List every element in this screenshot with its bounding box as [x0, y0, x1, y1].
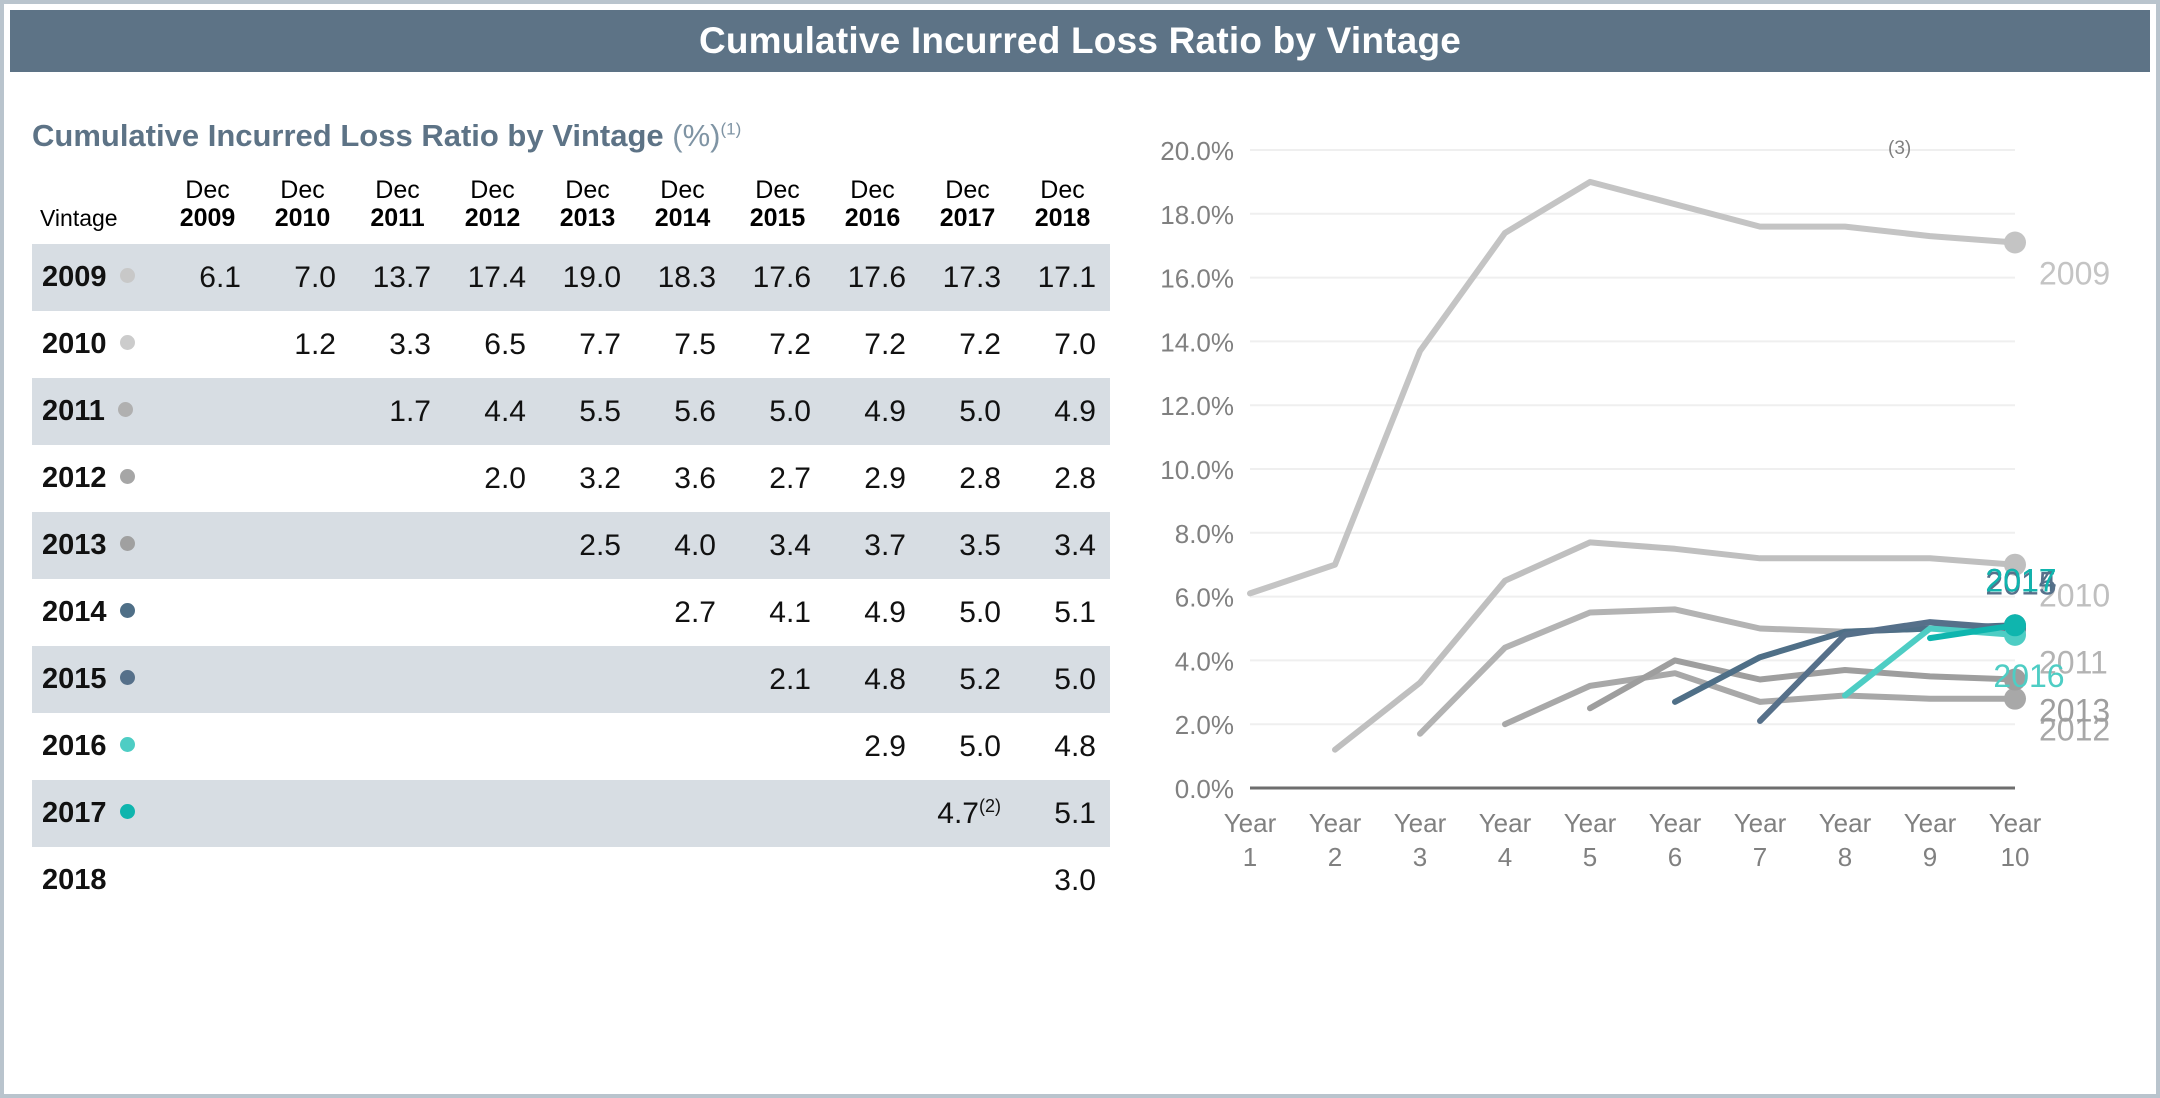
table-cell	[160, 847, 255, 914]
table-cell: 5.5	[540, 378, 635, 445]
table-row: 20132.54.03.43.73.53.4	[32, 512, 1110, 579]
x-axis-tick-label: Year	[1734, 808, 1787, 838]
series-color-dot-icon	[120, 335, 135, 350]
vintage-year-label: 2014	[42, 596, 107, 628]
table-cell	[255, 512, 350, 579]
column-header-dec-2017: Dec2017	[920, 176, 1015, 244]
table-cell: 2.8	[1015, 445, 1110, 512]
table-cell: 5.0	[920, 713, 1015, 780]
table-cell	[350, 780, 445, 847]
table-cell: 3.2	[540, 445, 635, 512]
chart-footnote-marker: (3)	[1888, 138, 1911, 160]
table-cell	[160, 713, 255, 780]
table-row: 20142.74.14.95.05.1	[32, 579, 1110, 646]
table-cell	[730, 847, 825, 914]
table-cell: 4.9	[825, 579, 920, 646]
table-cell: 2.7	[730, 445, 825, 512]
table-cell: 4.1	[730, 579, 825, 646]
table-cell: 4.9	[1015, 378, 1110, 445]
column-header-month: Dec	[160, 176, 255, 204]
table-cell	[350, 713, 445, 780]
y-axis-tick-label: 20.0%	[1160, 136, 1234, 166]
table-cell	[255, 646, 350, 713]
table-cell: 5.2	[920, 646, 1015, 713]
table-cell: 19.0	[540, 244, 635, 311]
column-header-dec-2012: Dec2012	[445, 176, 540, 244]
table-cell	[160, 311, 255, 378]
series-color-dot-icon	[120, 737, 135, 752]
table-cell: 3.6	[635, 445, 730, 512]
table-cell	[825, 847, 920, 914]
column-header-dec-2009: Dec2009	[160, 176, 255, 244]
table-cell: 7.5	[635, 311, 730, 378]
table-cell: 4.4	[445, 378, 540, 445]
table-row-vintage: 2015	[32, 646, 160, 713]
table-cell: 4.9	[825, 378, 920, 445]
table-cell: 5.6	[635, 378, 730, 445]
table-cell: 5.0	[1015, 646, 1110, 713]
table-row-vintage: 2012	[32, 445, 160, 512]
x-axis-tick-label: Year	[1224, 808, 1277, 838]
table-cell	[445, 646, 540, 713]
vintage-year-label: 2018	[42, 864, 107, 896]
table-header-row: Vintage Dec2009 Dec2010 Dec2011 Dec2012 …	[32, 176, 1110, 244]
vintage-year-label: 2016	[42, 730, 107, 762]
column-header-month: Dec	[350, 176, 445, 204]
table-cell: 3.3	[350, 311, 445, 378]
table-panel: Cumulative Incurred Loss Ratio by Vintag…	[10, 78, 1120, 1088]
x-axis-tick-label: 4	[1498, 842, 1512, 872]
table-cell: 1.7	[350, 378, 445, 445]
table-cell: 3.7	[825, 512, 920, 579]
slide-page: Cumulative Incurred Loss Ratio by Vintag…	[0, 0, 2160, 1098]
table-cell: 17.4	[445, 244, 540, 311]
table-row: 20096.17.013.717.419.018.317.617.617.317…	[32, 244, 1110, 311]
vintage-year-label: 2012	[42, 462, 107, 494]
table-cell: 13.7	[350, 244, 445, 311]
table-cell	[160, 646, 255, 713]
table-cell: 1.2	[255, 311, 350, 378]
x-axis-tick-label: Year	[1904, 808, 1957, 838]
x-axis-tick-label: 8	[1838, 842, 1852, 872]
y-axis-tick-label: 18.0%	[1160, 200, 1234, 230]
table-cell	[445, 579, 540, 646]
table-row-vintage: 2013	[32, 512, 160, 579]
table-cell	[920, 847, 1015, 914]
vintage-table: Vintage Dec2009 Dec2010 Dec2011 Dec2012 …	[32, 176, 1110, 914]
series-label-2017: 2017	[1985, 562, 2056, 598]
table-cell: 4.0	[635, 512, 730, 579]
y-axis-tick-label: 4.0%	[1175, 646, 1234, 676]
table-cell	[255, 847, 350, 914]
column-header-year: 2016	[845, 204, 901, 232]
series-label-2009: 2009	[2039, 256, 2110, 292]
table-cell: 5.1	[1015, 780, 1110, 847]
x-axis-tick-label: Year	[1394, 808, 1447, 838]
vintage-year-label: 2013	[42, 529, 107, 561]
column-header-year: 2009	[180, 204, 236, 232]
table-row-vintage: 2018	[32, 847, 160, 914]
y-axis-tick-label: 10.0%	[1160, 455, 1234, 485]
x-axis-tick-label: Year	[1649, 808, 1702, 838]
vintage-year-label: 2015	[42, 663, 107, 695]
x-axis-tick-label: 5	[1583, 842, 1597, 872]
column-header-year: 2011	[370, 204, 424, 232]
vintage-year-label: 2011	[42, 395, 105, 427]
x-axis-tick-label: 7	[1753, 842, 1767, 872]
table-cell	[540, 847, 635, 914]
table-row-vintage: 2014	[32, 579, 160, 646]
series-color-dot-icon	[120, 268, 135, 283]
table-cell: 4.8	[825, 646, 920, 713]
x-axis-tick-label: Year	[1309, 808, 1362, 838]
column-header-month: Dec	[255, 176, 350, 204]
column-header-year: 2014	[655, 204, 711, 232]
table-row-vintage: 2009	[32, 244, 160, 311]
x-axis-tick-label: Year	[1479, 808, 1532, 838]
table-cell: 2.0	[445, 445, 540, 512]
x-axis-tick-label: 3	[1413, 842, 1427, 872]
series-color-dot-icon	[120, 469, 135, 484]
series-label-2013: 2013	[2039, 693, 2110, 729]
column-header-month: Dec	[825, 176, 920, 204]
x-axis-tick-label: Year	[1819, 808, 1872, 838]
x-axis-tick-label: 1	[1243, 842, 1257, 872]
table-cell	[540, 780, 635, 847]
table-cell	[445, 512, 540, 579]
table-row: 20152.14.85.25.0	[32, 646, 1110, 713]
column-header-month: Dec	[1015, 176, 1110, 204]
table-cell	[160, 579, 255, 646]
series-endpoint-marker-2009	[2004, 232, 2026, 254]
content-area: Cumulative Incurred Loss Ratio by Vintag…	[10, 78, 2150, 1088]
table-cell	[350, 646, 445, 713]
column-header-year: 2018	[1035, 204, 1091, 232]
series-label-2016: 2016	[1993, 658, 2064, 694]
table-cell	[635, 780, 730, 847]
table-cell	[540, 713, 635, 780]
x-axis-tick-label: Year	[1989, 808, 2042, 838]
table-cell	[445, 780, 540, 847]
y-axis-tick-label: 12.0%	[1160, 391, 1234, 421]
table-row: 20122.03.23.62.72.92.82.8	[32, 445, 1110, 512]
series-color-dot-icon	[120, 536, 135, 551]
table-cell: 2.1	[730, 646, 825, 713]
table-row: 20101.23.36.57.77.57.27.27.27.0	[32, 311, 1110, 378]
table-row-vintage: 2016	[32, 713, 160, 780]
table-cell: 5.0	[920, 378, 1015, 445]
table-cell: 7.2	[920, 311, 1015, 378]
column-header-dec-2011: Dec2011	[350, 176, 445, 244]
column-header-dec-2018: Dec2018	[1015, 176, 1110, 244]
y-axis-tick-label: 6.0%	[1175, 583, 1234, 613]
section-title-unit: (%)	[672, 118, 720, 153]
table-cell: 5.0	[920, 579, 1015, 646]
table-cell	[255, 378, 350, 445]
x-axis-tick-label: 2	[1328, 842, 1342, 872]
table-cell	[350, 445, 445, 512]
cell-footnote-marker: (2)	[979, 796, 1001, 816]
table-cell: 7.2	[730, 311, 825, 378]
table-cell	[540, 646, 635, 713]
table-cell	[255, 445, 350, 512]
table-cell: 3.4	[1015, 512, 1110, 579]
vintage-year-label: 2017	[42, 797, 107, 829]
column-header-year: 2012	[465, 204, 521, 232]
series-color-dot-icon	[120, 603, 135, 618]
column-header-month: Dec	[540, 176, 635, 204]
table-cell: 3.0	[1015, 847, 1110, 914]
column-header-year: 2017	[940, 204, 996, 232]
table-cell	[350, 512, 445, 579]
y-axis-tick-label: 2.0%	[1175, 710, 1234, 740]
table-row-vintage: 2011	[32, 378, 160, 445]
series-line-2009	[1250, 182, 2015, 594]
table-cell	[350, 579, 445, 646]
table-cell: 4.8	[1015, 713, 1110, 780]
table-cell	[445, 847, 540, 914]
y-axis-tick-label: 14.0%	[1160, 327, 1234, 357]
table-cell: 2.9	[825, 713, 920, 780]
column-header-month: Dec	[920, 176, 1015, 204]
column-header-dec-2016: Dec2016	[825, 176, 920, 244]
vintage-year-label: 2010	[42, 328, 107, 360]
loss-ratio-line-chart: 0.0%2.0%4.0%6.0%8.0%10.0%12.0%14.0%16.0%…	[1120, 78, 2150, 1088]
table-cell: 2.9	[825, 445, 920, 512]
chart-panel: 0.0%2.0%4.0%6.0%8.0%10.0%12.0%14.0%16.0%…	[1120, 78, 2150, 1088]
page-header-bar: Cumulative Incurred Loss Ratio by Vintag…	[10, 10, 2150, 72]
table-cell: 2.8	[920, 445, 1015, 512]
table-cell	[635, 713, 730, 780]
column-header-month: Dec	[635, 176, 730, 204]
series-color-dot-icon	[120, 804, 135, 819]
table-cell: 6.1	[160, 244, 255, 311]
column-header-month: Dec	[730, 176, 825, 204]
table-cell	[350, 847, 445, 914]
table-cell: 17.1	[1015, 244, 1110, 311]
table-cell	[160, 445, 255, 512]
table-cell: 17.6	[825, 244, 920, 311]
table-cell	[635, 847, 730, 914]
table-row: 20162.95.04.8	[32, 713, 1110, 780]
page-title: Cumulative Incurred Loss Ratio by Vintag…	[699, 20, 1461, 62]
x-axis-tick-label: Year	[1564, 808, 1617, 838]
table-cell	[255, 579, 350, 646]
table-cell	[540, 579, 635, 646]
table-cell: 3.5	[920, 512, 1015, 579]
table-row-vintage: 2017	[32, 780, 160, 847]
y-axis-tick-label: 8.0%	[1175, 519, 1234, 549]
table-cell: 17.3	[920, 244, 1015, 311]
table-cell: 7.7	[540, 311, 635, 378]
section-title: Cumulative Incurred Loss Ratio by Vintag…	[32, 118, 741, 154]
table-cell: 7.0	[255, 244, 350, 311]
y-axis-tick-label: 16.0%	[1160, 264, 1234, 294]
column-header-vintage: Vintage	[32, 176, 160, 244]
column-header-year: 2015	[750, 204, 806, 232]
table-cell: 18.3	[635, 244, 730, 311]
table-cell	[255, 713, 350, 780]
section-title-text: Cumulative Incurred Loss Ratio by Vintag…	[32, 118, 664, 153]
column-header-year: 2010	[275, 204, 331, 232]
table-cell	[445, 713, 540, 780]
table-cell: 4.7(2)	[920, 780, 1015, 847]
table-cell	[255, 780, 350, 847]
column-header-dec-2014: Dec2014	[635, 176, 730, 244]
table-cell	[635, 646, 730, 713]
column-header-year: 2013	[560, 204, 616, 232]
table-row: 20183.0	[32, 847, 1110, 914]
table-cell	[160, 780, 255, 847]
column-header-dec-2010: Dec2010	[255, 176, 350, 244]
table-cell: 3.4	[730, 512, 825, 579]
table-cell: 7.2	[825, 311, 920, 378]
x-axis-tick-label: 10	[2001, 842, 2030, 872]
table-cell: 6.5	[445, 311, 540, 378]
table-cell	[160, 378, 255, 445]
column-header-dec-2015: Dec2015	[730, 176, 825, 244]
y-axis-tick-label: 0.0%	[1175, 774, 1234, 804]
table-cell: 17.6	[730, 244, 825, 311]
series-color-dot-icon	[118, 402, 133, 417]
table-cell	[730, 780, 825, 847]
x-axis-tick-label: 6	[1668, 842, 1682, 872]
table-cell: 5.0	[730, 378, 825, 445]
table-row-vintage: 2010	[32, 311, 160, 378]
section-title-footnote: (1)	[720, 120, 741, 139]
vintage-year-label: 2009	[42, 261, 107, 293]
table-cell: 2.7	[635, 579, 730, 646]
table-row: 20174.7(2)5.1	[32, 780, 1110, 847]
table-cell: 7.0	[1015, 311, 1110, 378]
table-body: 20096.17.013.717.419.018.317.617.617.317…	[32, 244, 1110, 914]
table-cell	[825, 780, 920, 847]
x-axis-tick-label: 9	[1923, 842, 1937, 872]
table-cell: 2.5	[540, 512, 635, 579]
series-color-dot-icon	[120, 670, 135, 685]
column-header-month: Dec	[445, 176, 540, 204]
table-cell: 5.1	[1015, 579, 1110, 646]
series-endpoint-marker-2017	[2004, 614, 2026, 636]
table-cell	[730, 713, 825, 780]
table-cell	[160, 512, 255, 579]
column-header-dec-2013: Dec2013	[540, 176, 635, 244]
table-row: 20111.74.45.55.65.04.95.04.9	[32, 378, 1110, 445]
